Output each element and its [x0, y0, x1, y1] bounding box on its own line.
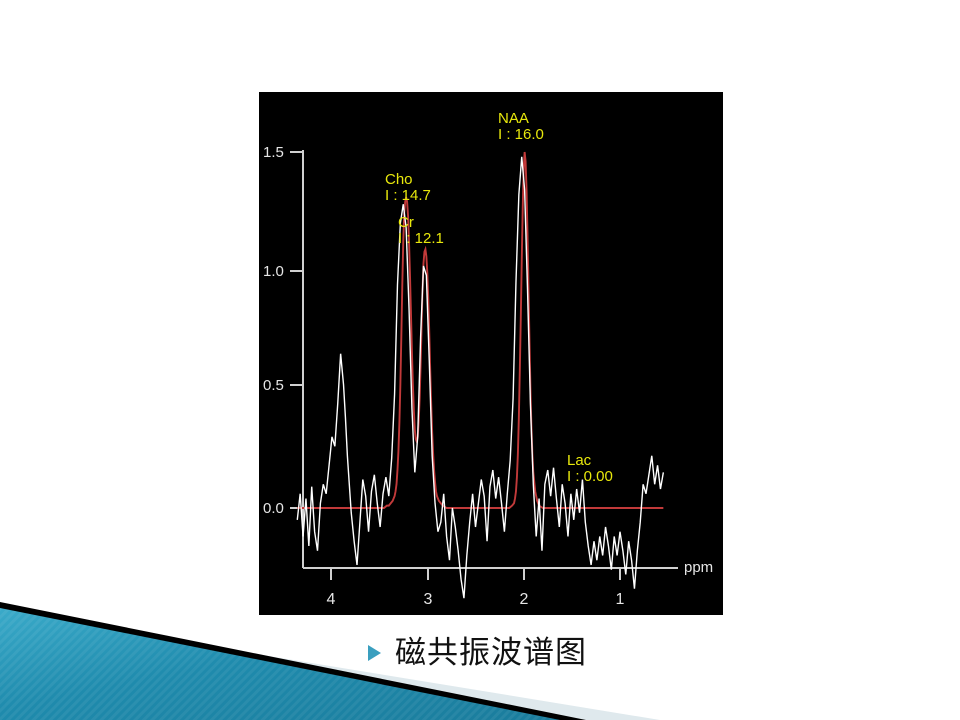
x-tick-label-4: 4	[327, 591, 336, 608]
peak-name-cr: Cr	[398, 214, 414, 231]
peak-intensity-lac: I : 0.00	[567, 468, 613, 485]
slide-root: 1.5 1.0 0.5 0.0 4 3 2 1 ppm	[0, 0, 960, 720]
peak-name-naa: NAA	[498, 110, 529, 127]
x-tick-label-2: 2	[520, 591, 529, 608]
caption-row: 磁共振波谱图	[368, 630, 587, 676]
mrs-spectrum-image: 1.5 1.0 0.5 0.0 4 3 2 1 ppm	[259, 92, 723, 615]
y-tick-label-0p5: 0.5	[263, 377, 284, 394]
peak-intensity-cr: I : 12.1	[398, 230, 444, 247]
peak-intensity-cho: I : 14.7	[385, 187, 431, 204]
x-axis-unit-label: ppm	[684, 559, 713, 576]
y-tick-label-1p5: 1.5	[263, 144, 284, 161]
peak-name-lac: Lac	[567, 452, 592, 469]
y-tick-label-1p0: 1.0	[263, 263, 284, 280]
caption-label: 磁共振波谱图	[395, 638, 587, 669]
triangle-right-bullet-icon	[368, 645, 381, 661]
x-tick-label-3: 3	[424, 591, 433, 608]
peak-intensity-naa: I : 16.0	[498, 126, 544, 143]
y-tick-label-0p0: 0.0	[263, 500, 284, 517]
spectrum-background	[259, 92, 723, 615]
peak-name-cho: Cho	[385, 171, 413, 188]
x-tick-label-1: 1	[616, 591, 625, 608]
